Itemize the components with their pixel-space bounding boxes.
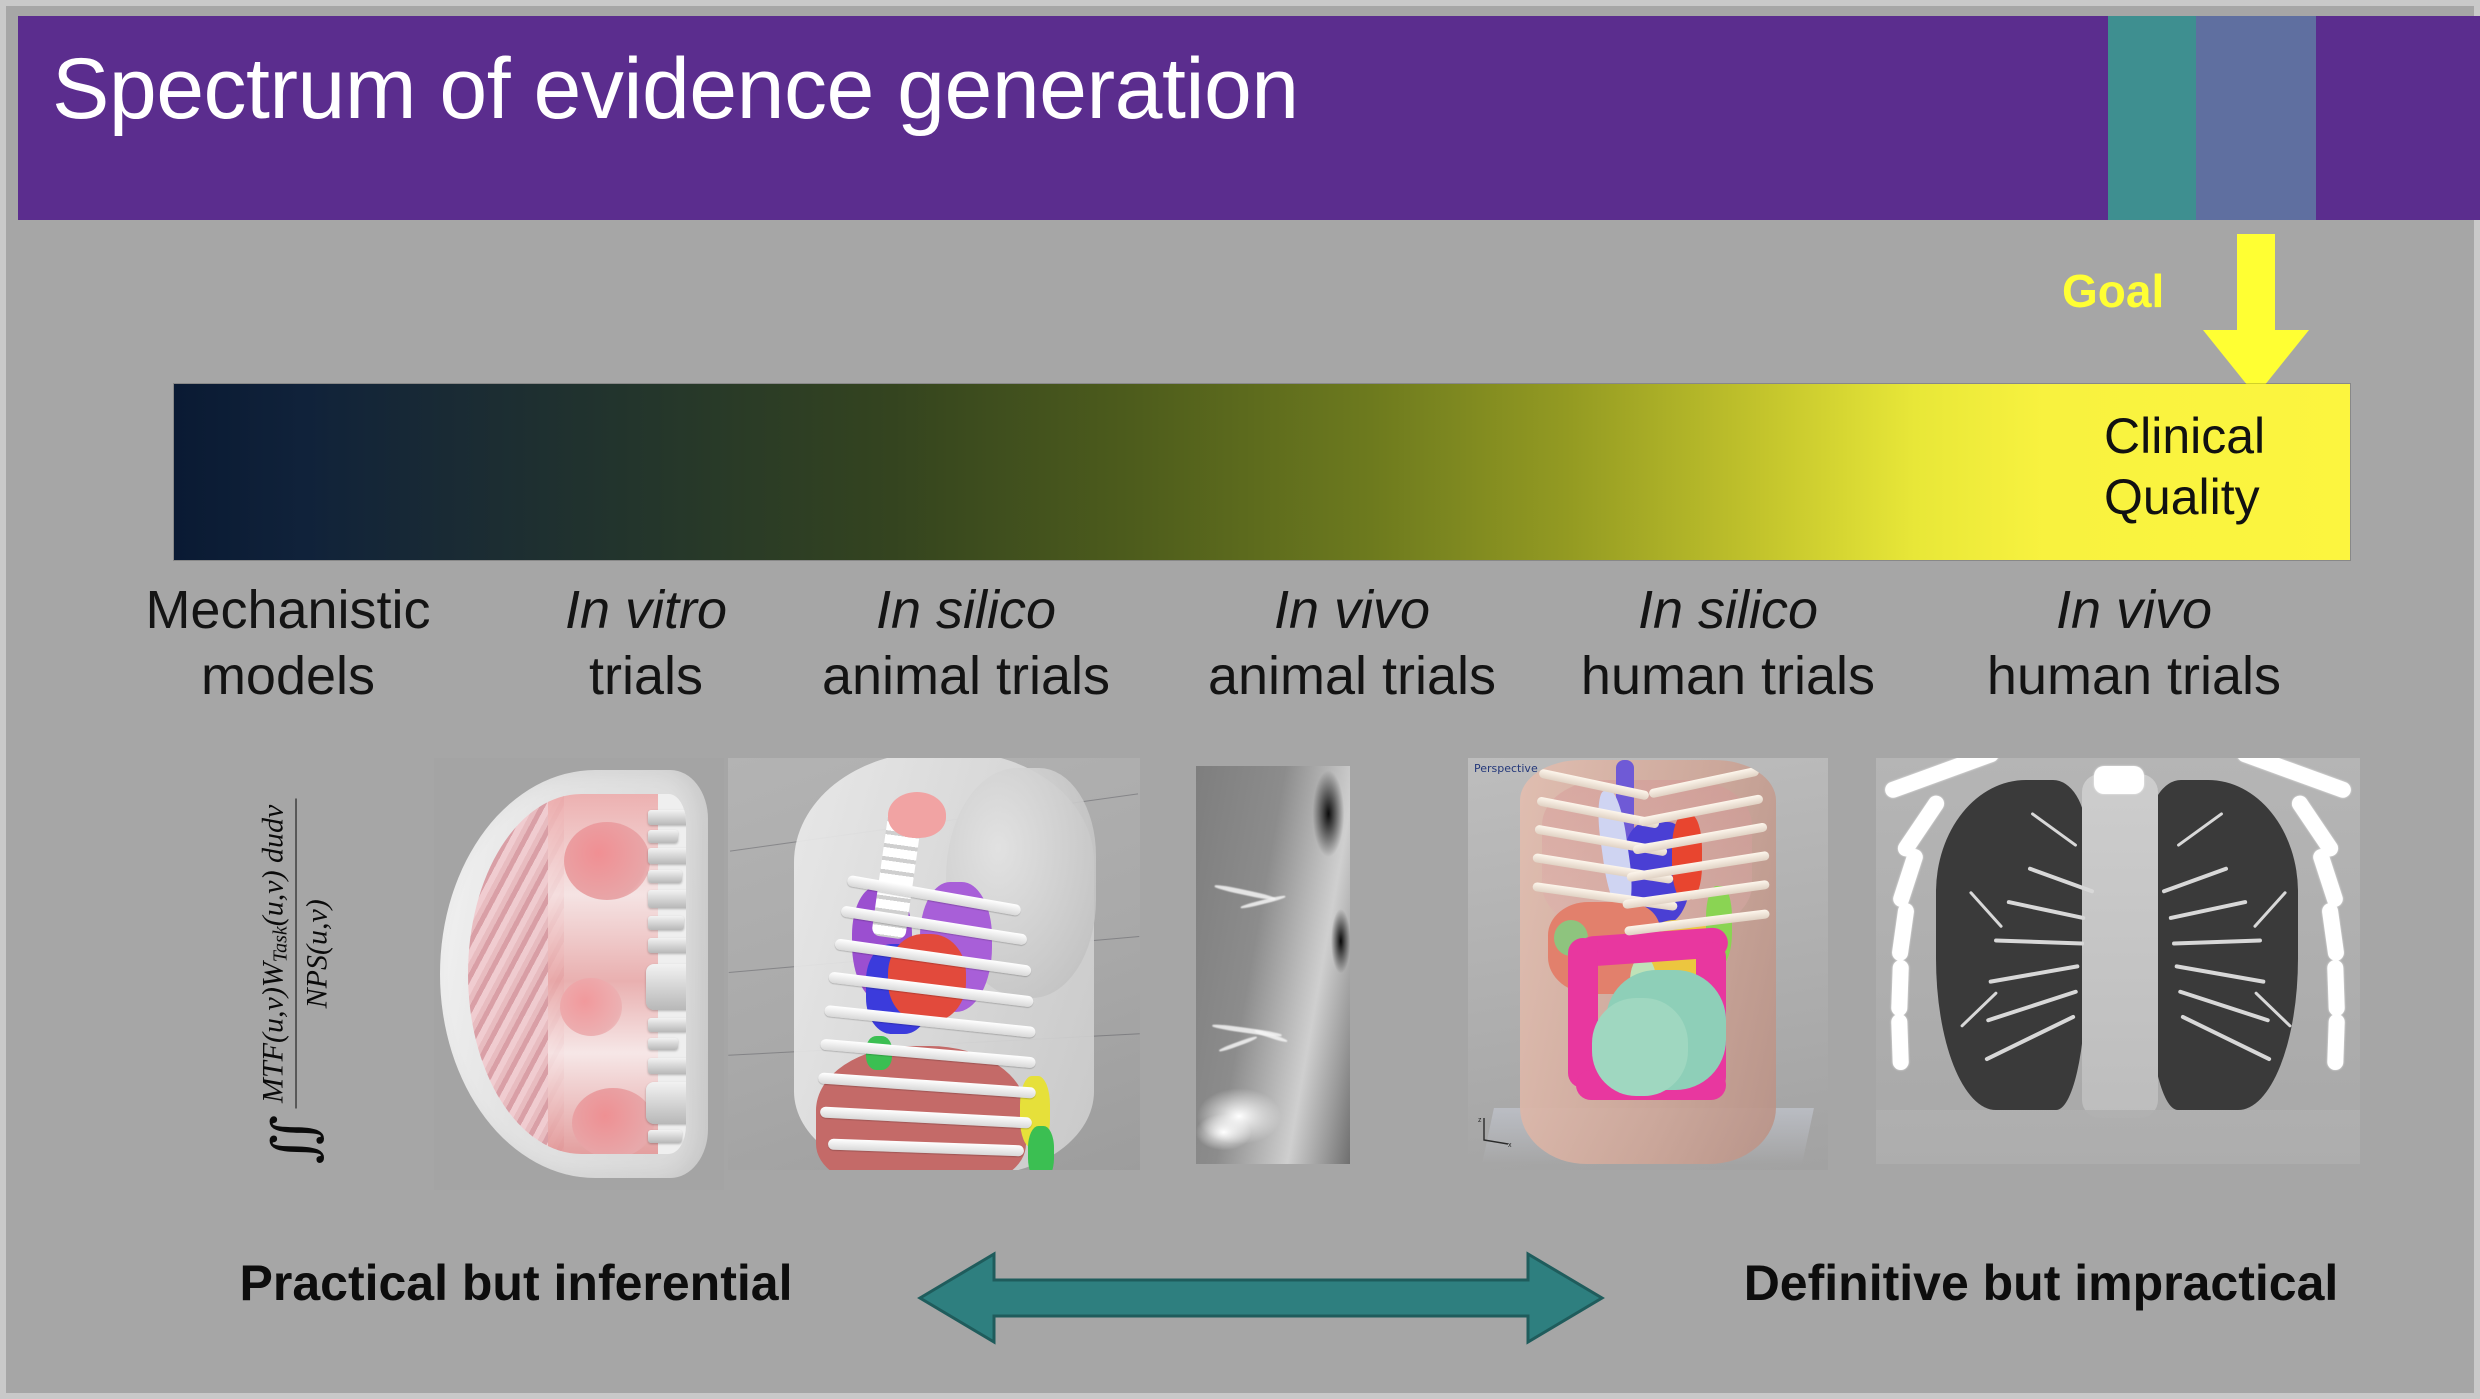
in-silico-animal-model-image [728, 758, 1140, 1170]
formula-args1: (u,v) [257, 987, 290, 1043]
formula-differential: dudv [257, 805, 290, 863]
stage-label-line1: In vivo [1924, 578, 2344, 644]
clinical-quality-line1: Clinical [2104, 408, 2265, 464]
slide-canvas: Spectrum of evidence generation Goal Cli… [0, 0, 2480, 1399]
stage-label-in-silico-human-trials: In silico human trials [1538, 578, 1918, 710]
clinical-quality-label: Clinical Quality [2104, 406, 2334, 528]
formula-mtf: MTF [257, 1043, 290, 1103]
stage-label-line2: trials [496, 644, 796, 710]
stage-label-line1: In silico [766, 578, 1166, 644]
axis-gizmo-icon: z x [1478, 1114, 1512, 1148]
stage-label-line1: Mechanistic [94, 578, 482, 644]
evidence-quality-gradient-bar: Clinical Quality [174, 384, 2350, 560]
stage-label-line2: human trials [1538, 644, 1918, 710]
stage-label-line2: animal trials [766, 644, 1166, 710]
in-vivo-animal-radiograph-image [1196, 766, 1350, 1164]
in-silico-human-model-image: Perspective z x [1468, 758, 1828, 1170]
svg-text:z: z [1478, 1117, 1482, 1124]
stage-label-line1: In silico [1538, 578, 1918, 644]
stage-label-in-silico-animal-trials: In silico animal trials [766, 578, 1166, 710]
header-band-purple-right [2316, 16, 2480, 220]
stage-label-in-vivo-animal-trials: In vivo animal trials [1162, 578, 1542, 710]
perspective-overlay-label: Perspective [1474, 762, 1538, 775]
stage-label-mechanistic-models: Mechanistic models [94, 578, 482, 710]
stage-label-line2: human trials [1924, 644, 2344, 710]
stage-label-line1: In vitro [496, 578, 796, 644]
clinical-quality-line2: Quality [2104, 469, 2260, 525]
svg-text:x: x [1508, 1142, 1512, 1148]
stage-label-in-vitro-trials: In vitro trials [496, 578, 796, 710]
page-title: Spectrum of evidence generation [52, 46, 2012, 132]
stage-label-line2: animal trials [1162, 644, 1542, 710]
practical-but-inferential-label: Practical but inferential [206, 1254, 826, 1312]
goal-label: Goal [2062, 268, 2164, 314]
header-band-teal [2108, 16, 2196, 220]
formula-denominator: NPS(u,v) [296, 893, 334, 1014]
header-band-slate [2196, 16, 2316, 220]
stage-label-line1: In vivo [1162, 578, 1542, 644]
stage-label-line2: models [94, 644, 482, 710]
formula-w: W [257, 962, 290, 987]
definitive-but-impractical-label: Definitive but impractical [1696, 1254, 2386, 1312]
in-vitro-phantom-image [434, 758, 724, 1190]
stage-label-row: Mechanistic models In vitro trials In si… [66, 578, 2416, 726]
double-headed-arrow-icon [916, 1244, 1606, 1352]
formula-sub-task: Task [270, 926, 292, 962]
double-integral-icon: ∬ [272, 1115, 318, 1164]
down-arrow-icon [2203, 234, 2309, 396]
stage-label-in-vivo-human-trials: In vivo human trials [1924, 578, 2344, 710]
formula-args2: (u,v) [257, 870, 290, 926]
header-banner: Spectrum of evidence generation [18, 16, 2474, 220]
in-vivo-human-ct-image [1876, 758, 2360, 1164]
